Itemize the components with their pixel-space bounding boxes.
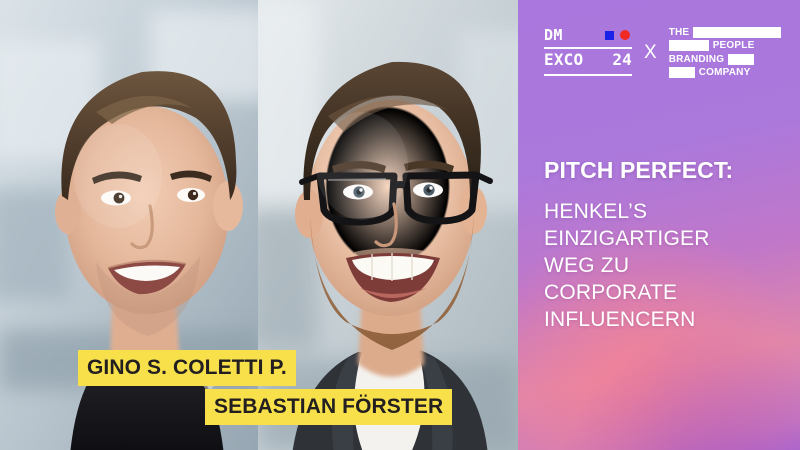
blue-square-icon (605, 31, 614, 40)
tpbc-word-branding: BRANDING (669, 54, 725, 65)
logo-separator-x: X (642, 43, 659, 62)
dmexco-exco-text: EXCO (544, 52, 583, 68)
tpbc-line-1: THE (669, 27, 781, 38)
headline-block: PITCH PERFECT: HENKEL’S EINZIGARTIGER WE… (544, 158, 792, 334)
dmexco-year-text: 24 (612, 52, 632, 68)
subtitle-line-2: EINZIGARTIGER (544, 226, 792, 253)
subtitle-line-1: HENKEL’S (544, 199, 792, 226)
tpbc-bar-4 (669, 67, 695, 78)
promo-card-canvas: DM EXCO 24 X THE (0, 0, 800, 450)
tpbc-bar-2 (669, 40, 709, 51)
dmexco-logo: DM EXCO 24 (544, 26, 632, 79)
tpbc-word-people: PEOPLE (713, 40, 755, 51)
tpbc-word-company: COMPANY (699, 67, 751, 78)
dmexco-dm-text: DM (544, 28, 563, 43)
speaker-name-tag-gino: GINO S. COLETTI P. (78, 350, 296, 386)
subtitle-line-5: INFLUENCERN (544, 307, 792, 334)
headline-subtitle: HENKEL’S EINZIGARTIGER WEG ZU CORPORATE … (544, 199, 792, 333)
headline-title: PITCH PERFECT: (544, 158, 792, 183)
subtitle-line-3: WEG ZU (544, 253, 792, 280)
dmexco-top-row: DM (544, 26, 632, 44)
dmexco-rule-top (544, 47, 632, 49)
the-people-branding-company-logo: THE PEOPLE BRANDING COMPANY (669, 27, 781, 79)
dmexco-rule-bottom (544, 74, 632, 76)
tpbc-line-3: BRANDING (669, 54, 781, 65)
red-circle-icon (620, 30, 630, 40)
logo-row: DM EXCO 24 X THE (544, 26, 790, 79)
brand-panel: DM EXCO 24 X THE (518, 0, 800, 450)
tpbc-line-4: COMPANY (669, 67, 781, 78)
portrait-right (258, 0, 518, 450)
subtitle-line-4: CORPORATE (544, 280, 792, 307)
dmexco-marks (605, 30, 632, 40)
tpbc-bar-3 (728, 54, 754, 65)
tpbc-word-the: THE (669, 27, 690, 38)
tpbc-line-2: PEOPLE (669, 40, 781, 51)
dmexco-bottom-row: EXCO 24 (544, 52, 632, 71)
speaker-name-tag-sebastian: SEBASTIAN FÖRSTER (205, 389, 452, 425)
tpbc-bar-1 (693, 27, 780, 38)
